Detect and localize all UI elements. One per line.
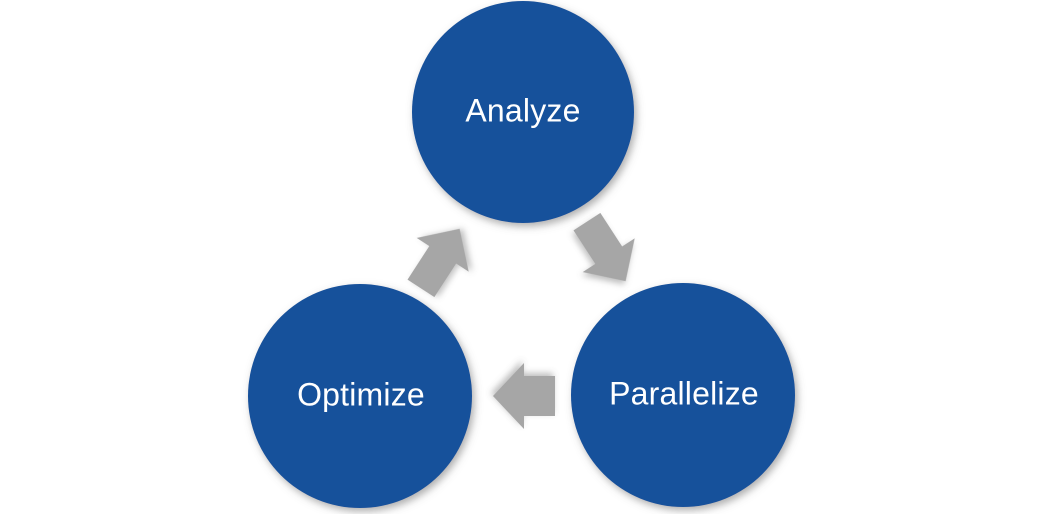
- node-parallelize-label: Parallelize: [609, 375, 759, 411]
- node-analyze[interactable]: Analyze: [412, 1, 634, 223]
- diagram-canvas: Analyze Parallelize Optimize: [0, 0, 1044, 514]
- arrow-parallelize-to-optimize: [493, 363, 555, 429]
- node-optimize-label: Optimize: [297, 376, 425, 412]
- node-parallelize[interactable]: Parallelize: [571, 283, 795, 507]
- arrow-optimize-to-analyze: [395, 212, 486, 305]
- cycle-diagram: Analyze Parallelize Optimize: [0, 0, 1044, 514]
- arrow-analyze-to-parallelize: [561, 205, 652, 298]
- node-optimize[interactable]: Optimize: [248, 284, 472, 508]
- node-analyze-label: Analyze: [465, 92, 580, 128]
